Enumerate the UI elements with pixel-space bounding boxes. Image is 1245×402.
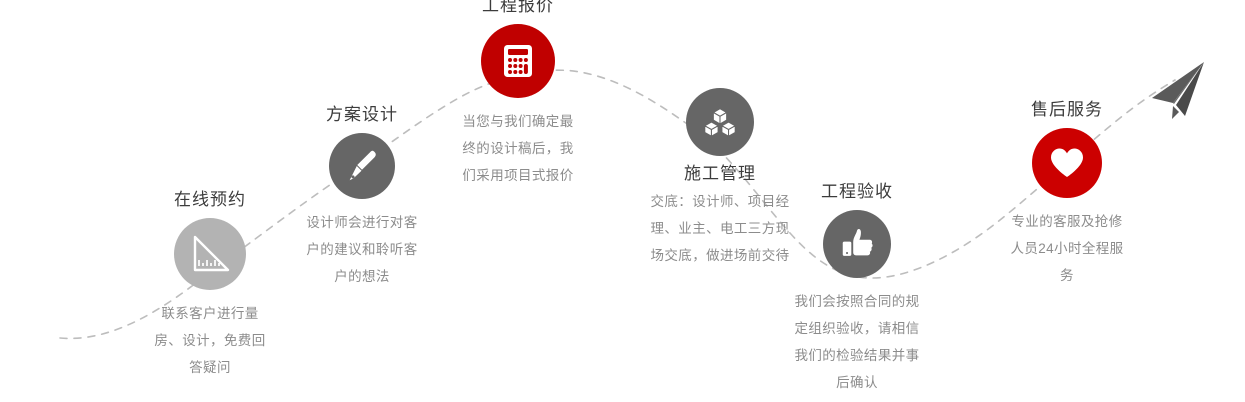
thumbs-up-icon — [838, 225, 876, 263]
desc-line: 我们会按照合同的规 — [767, 288, 947, 315]
ruler-triangle-icon — [190, 234, 230, 274]
desc-line: 答疑问 — [120, 354, 300, 381]
desc-line: 设计师会进行对客 — [272, 209, 452, 236]
flow-step-3-icon-circle[interactable] — [481, 24, 555, 98]
desc-line: 定组织验收，请相信 — [767, 315, 947, 342]
flow-step-2-description: 设计师会进行对客 户的建议和聆听客 户的想法 — [272, 209, 452, 290]
flow-step-2-icon-circle[interactable] — [329, 133, 395, 199]
desc-line: 专业的客服及抢修 — [977, 208, 1157, 235]
desc-line: 户的想法 — [272, 263, 452, 290]
desc-line: 后确认 — [767, 369, 947, 396]
flow-step-4-title: 施工管理 — [608, 164, 832, 184]
flow-step-6-icon-circle[interactable] — [1032, 128, 1102, 198]
flow-step-6[interactable]: 售后服务 专业的客服及抢修 人员24小时全程服 务 — [977, 100, 1157, 289]
blocks-icon — [701, 103, 739, 141]
flow-step-3-description: 当您与我们确定最 终的设计稿后，我 们采用项目式报价 — [428, 108, 608, 189]
calculator-icon — [498, 41, 538, 81]
paper-plane-icon — [1152, 62, 1204, 119]
flow-step-5-icon-circle[interactable] — [823, 210, 891, 278]
flow-step-5-title: 工程验收 — [767, 182, 947, 202]
flow-step-5[interactable]: 工程验收 我们会按照合同的规 定组织验收，请相信 我们的检验结果并事 后确认 — [767, 182, 947, 396]
flow-step-5-description: 我们会按照合同的规 定组织验收，请相信 我们的检验结果并事 后确认 — [767, 288, 947, 396]
flow-step-2-title: 方案设计 — [272, 105, 452, 125]
flow-step-1-icon-circle[interactable] — [174, 218, 246, 290]
pen-nib-icon — [343, 147, 381, 185]
desc-line: 户的建议和聆听客 — [272, 236, 452, 263]
desc-line: 当您与我们确定最 — [428, 108, 608, 135]
process-flow-diagram: 在线预约 联系客户进行量 房、设计，免费回 答疑问 方案设计 — [0, 0, 1245, 402]
flow-step-1-description: 联系客户进行量 房、设计，免费回 答疑问 — [120, 300, 300, 381]
heart-icon — [1047, 143, 1087, 183]
flow-step-3[interactable]: 工程报价 — [428, 0, 608, 189]
flow-step-4-icon-circle[interactable] — [686, 88, 754, 156]
desc-line: 务 — [977, 262, 1157, 289]
desc-line: 房、设计，免费回 — [120, 327, 300, 354]
desc-line: 我们的检验结果并事 — [767, 342, 947, 369]
desc-line: 联系客户进行量 — [120, 300, 300, 327]
desc-line: 人员24小时全程服 — [977, 235, 1157, 262]
flow-step-3-title: 工程报价 — [428, 0, 608, 16]
desc-line: 们采用项目式报价 — [428, 162, 608, 189]
flow-step-2[interactable]: 方案设计 设计师会进行对客 户的建议和聆听客 户的想法 — [272, 105, 452, 290]
desc-line: 终的设计稿后，我 — [428, 135, 608, 162]
flow-step-6-description: 专业的客服及抢修 人员24小时全程服 务 — [977, 208, 1157, 289]
flow-step-6-title: 售后服务 — [977, 100, 1157, 120]
